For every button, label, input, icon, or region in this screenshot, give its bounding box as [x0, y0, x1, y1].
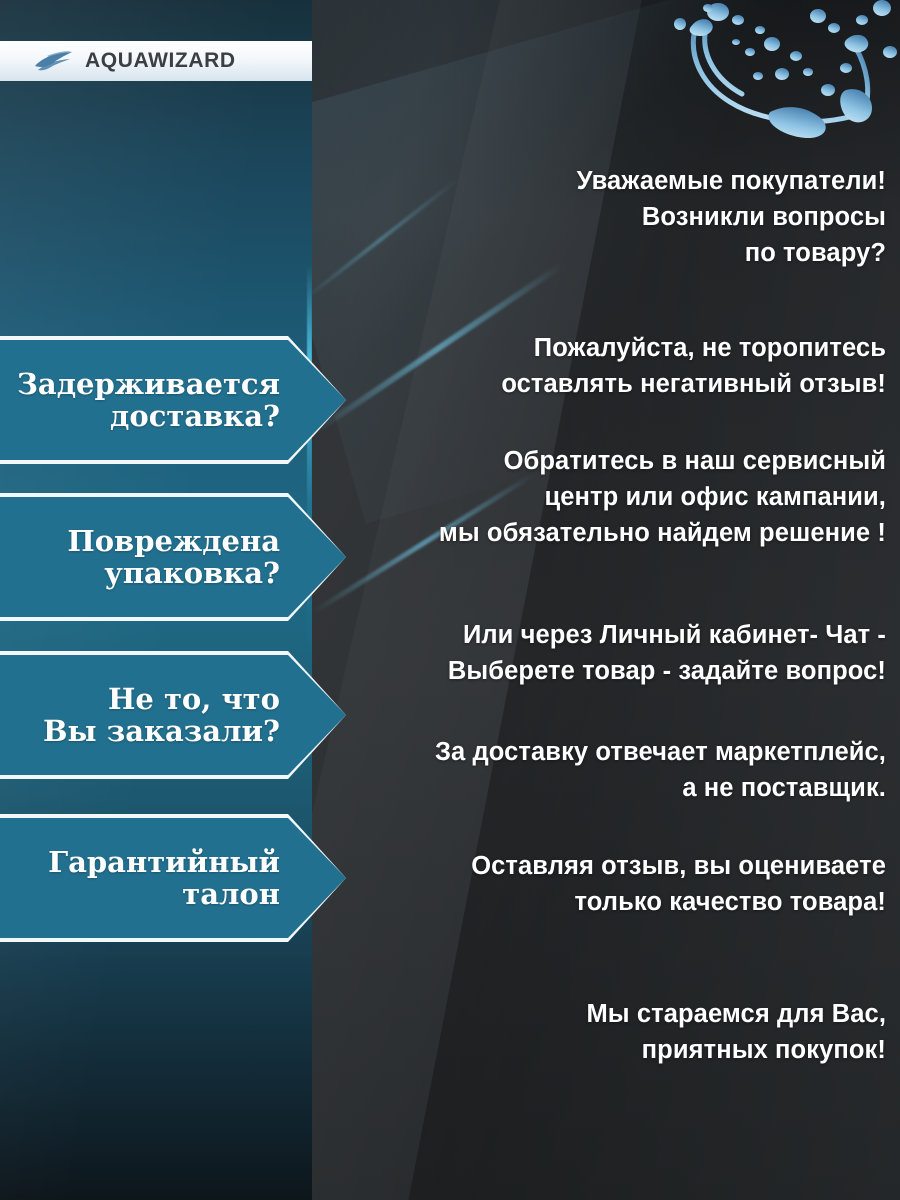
- promo-card: AQUAWIZARD Задерживается доставка? Повре…: [0, 0, 900, 1200]
- paragraph-review-quality: Оставляя отзыв, вы оцениваете только кач…: [330, 848, 886, 920]
- badge-wrong-item[interactable]: Не то, что Вы заказали?: [0, 655, 346, 775]
- paragraph-contact-service: Обратитесь в наш сервисный центр или офи…: [330, 443, 886, 552]
- badge-label: Гарантийный талон: [48, 846, 346, 911]
- badge-label: Повреждена упаковка?: [67, 525, 346, 590]
- message-column: Уважаемые покупатели! Возникли вопросы п…: [330, 0, 900, 1200]
- paragraph-closing: Мы стараемся для Вас, приятных покупок!: [330, 996, 886, 1068]
- paragraph-please-wait: Пожалуйста, не торопитесь оставлять нега…: [330, 330, 886, 402]
- wave-icon: [34, 50, 76, 72]
- brand-name: AQUAWIZARD: [85, 49, 236, 73]
- brand-logo: AQUAWIZARD: [0, 41, 312, 81]
- badge-label: Задерживается доставка?: [17, 368, 346, 433]
- badge-packaging-damaged[interactable]: Повреждена упаковка?: [0, 497, 346, 617]
- paragraph-chat-route: Или через Личный кабинет- Чат - Выберете…: [330, 617, 886, 689]
- badge-label: Не то, что Вы заказали?: [43, 683, 346, 748]
- paragraph-marketplace-delivery: За доставку отвечает маркетплейс, а не п…: [330, 734, 886, 806]
- paragraph-greeting: Уважаемые покупатели! Возникли вопросы п…: [330, 163, 886, 272]
- badge-warranty-card[interactable]: Гарантийный талон: [0, 818, 346, 938]
- badge-delivery-delayed[interactable]: Задерживается доставка?: [0, 340, 346, 460]
- cyan-edge-highlight: [307, 0, 312, 1200]
